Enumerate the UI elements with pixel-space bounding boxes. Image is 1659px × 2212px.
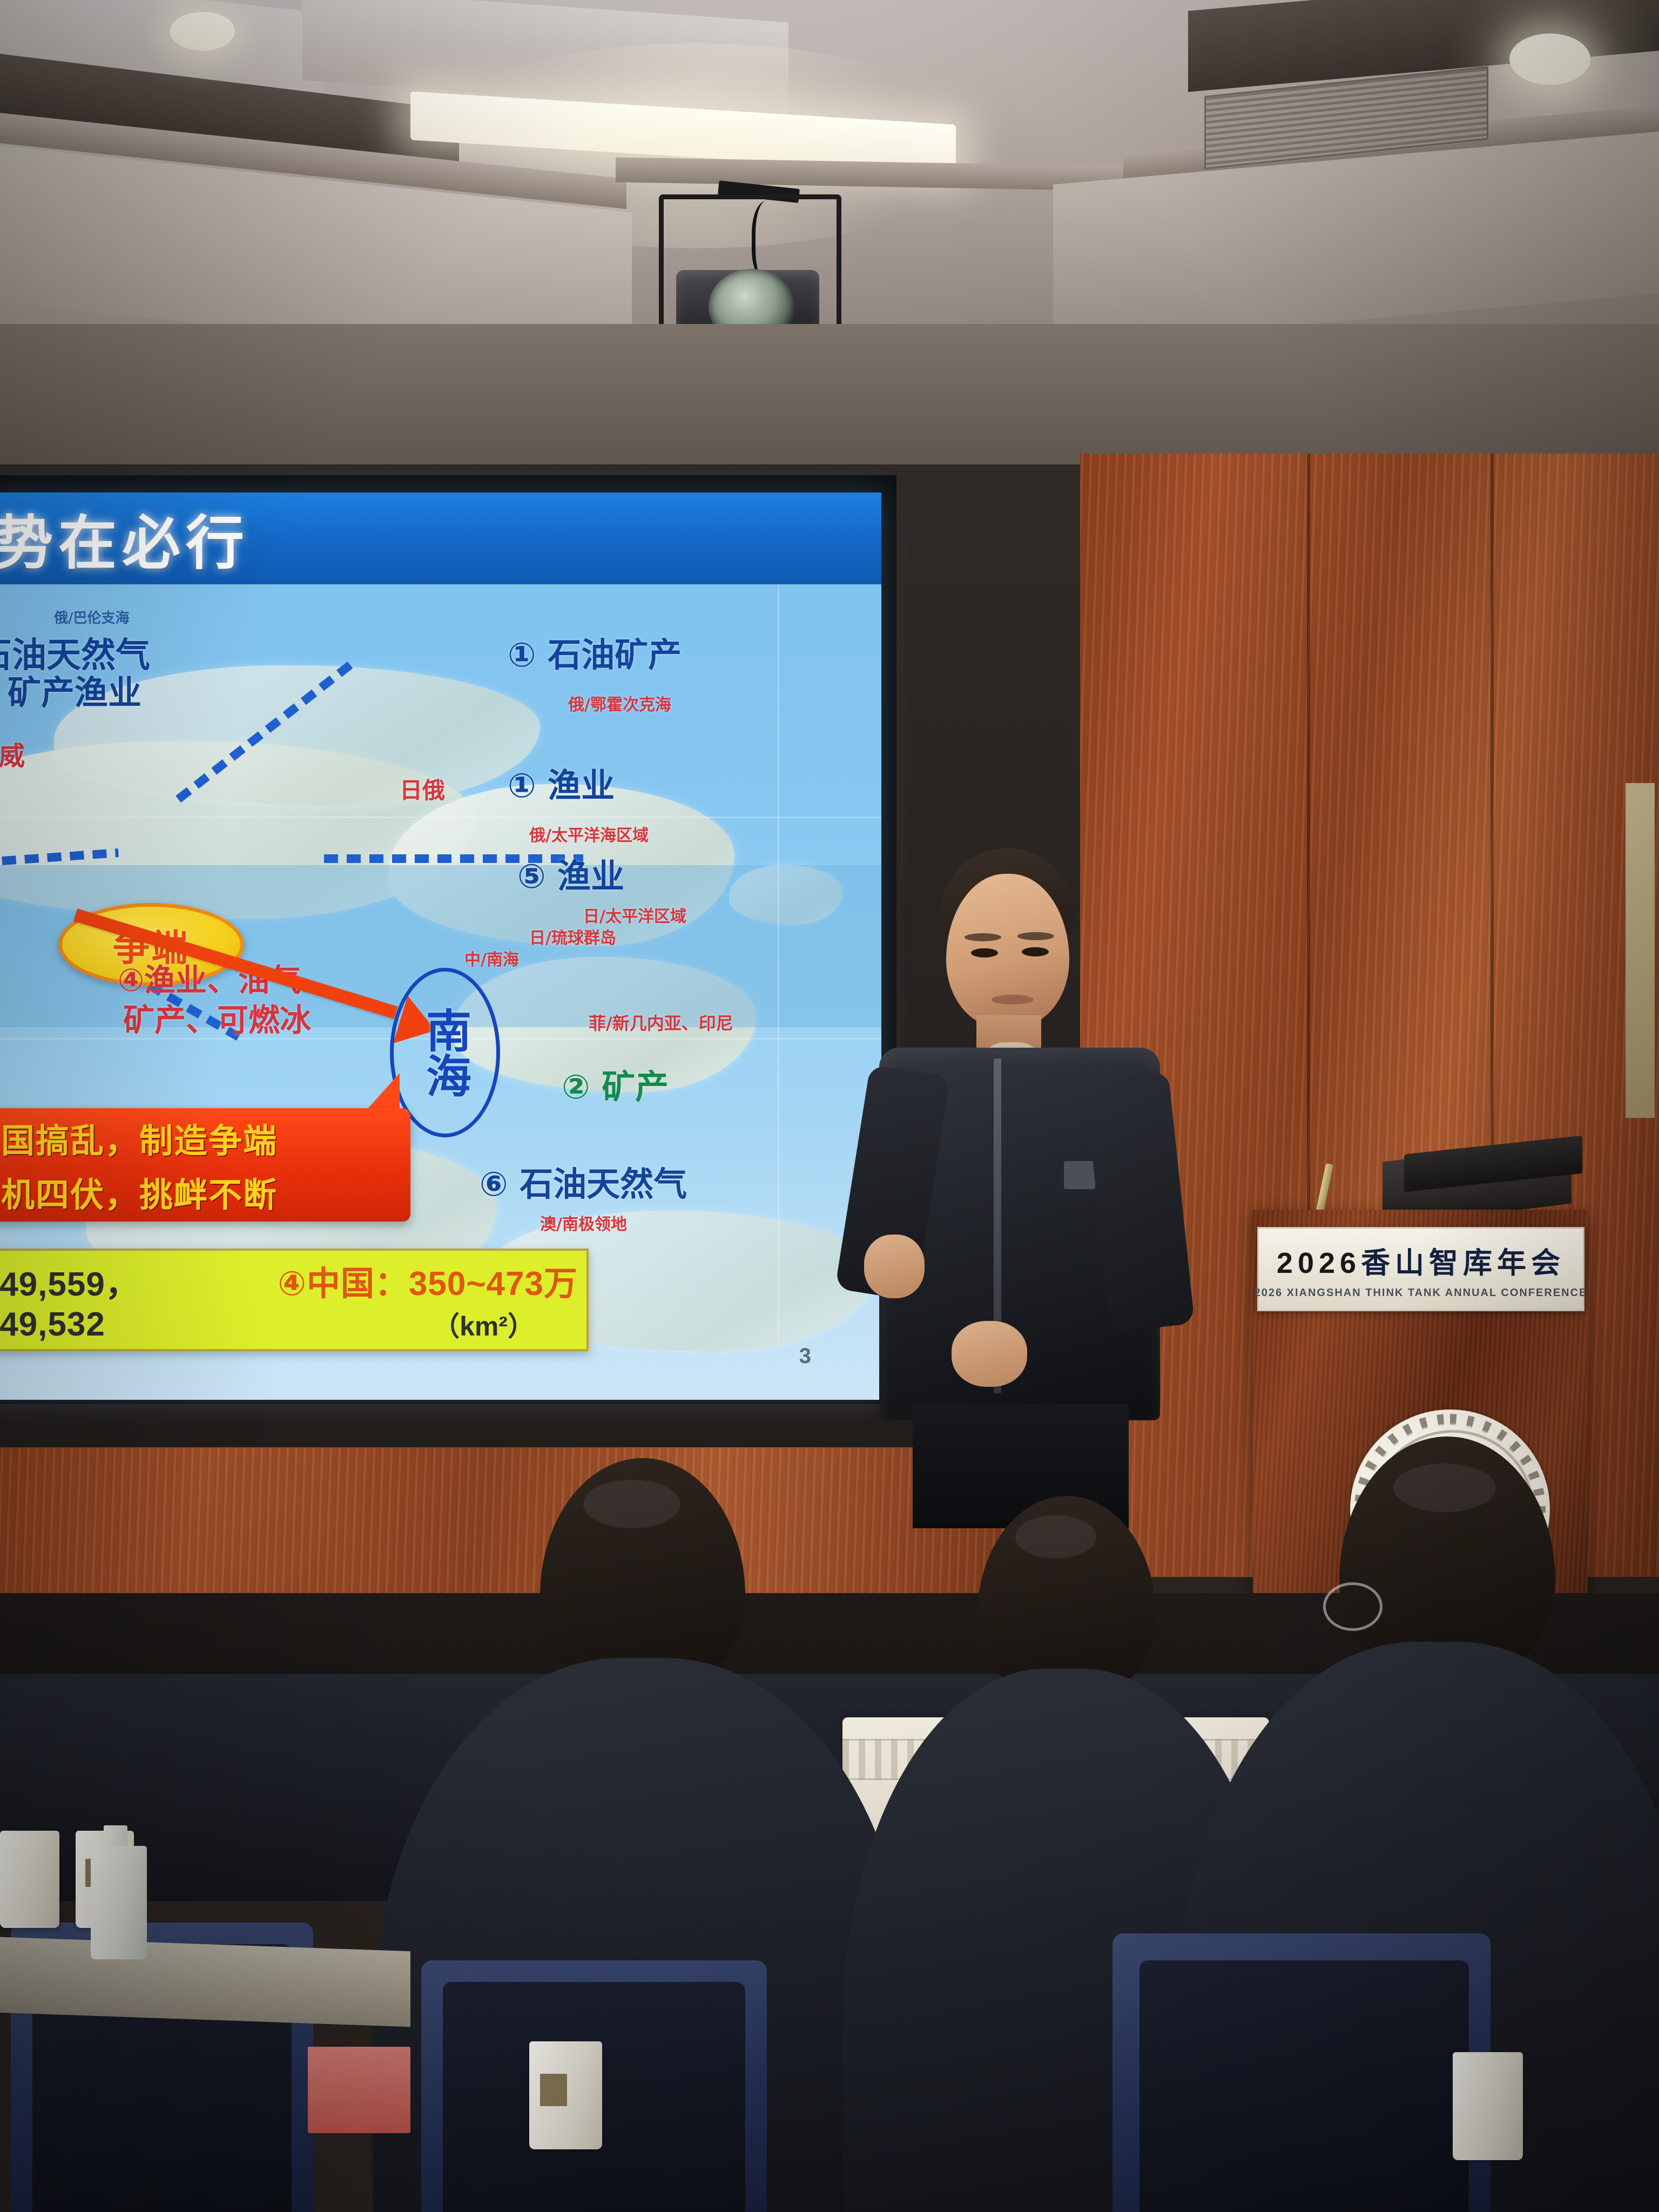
- label-item5-sub1: 日/太平洋区域: [583, 903, 686, 927]
- attendee-left-hair-highlight: [583, 1480, 680, 1528]
- attendee-right-glasses: [1323, 1582, 1382, 1631]
- area-statistics-box: 5,349,559， 1,449,532 ④中国：350~473万 （km²）: [0, 1249, 589, 1351]
- label-item1-fishery-sub: 俄/太平洋海区域: [529, 822, 649, 846]
- label-item4-line2: 矿产、可燃冰: [123, 995, 311, 1040]
- label-japan-russia: 日俄: [400, 772, 445, 805]
- area-stats-left-column: 5,349,559， 1,449,532: [0, 1257, 139, 1344]
- label-philippines: 菲/新几内亚、印尼: [589, 1010, 733, 1035]
- label-item5-fishery: ⑤ 渔业: [517, 849, 624, 898]
- label-item6-sub: 澳/南极领地: [540, 1211, 627, 1235]
- projection-screen: 势在必行 俄/巴伦支海 石油天然气 矿产渔业 挪威: [0, 493, 881, 1400]
- attendee-right-hair-highlight: [1393, 1464, 1496, 1512]
- label-top-left-small: 俄/巴伦支海: [54, 607, 130, 627]
- podium-nameplate: 2026香山智库年会 2026 XIANGSHAN THINK TANK ANN…: [1257, 1227, 1584, 1311]
- speaker-mouth: [992, 995, 1034, 1004]
- label-item1-oil-sub: 俄/鄂霍次克海: [568, 691, 671, 715]
- label-item5-sub3: 中/南海: [464, 946, 519, 970]
- ceiling-light-left: [170, 12, 235, 51]
- speaker-eye-left: [971, 948, 998, 957]
- cup-left-2: [0, 1831, 59, 1928]
- conference-hall-photo: 势在必行 俄/巴伦支海 石油天然气 矿产渔业 挪威: [0, 0, 1659, 2212]
- area-stats-value-2: 1,449,532: [0, 1305, 139, 1344]
- label-item6-oilgas: ⑥ 石油天然气: [480, 1157, 687, 1205]
- area-stats-right-column: ④中国：350~473万 （km²）: [278, 1256, 578, 1344]
- speaker-person: [832, 842, 1242, 1523]
- map-gridline-v1: [778, 584, 779, 1340]
- label-item2-mineral: ② 矿产: [562, 1060, 669, 1108]
- speaker-eye-right: [1022, 947, 1049, 956]
- label-mineral-fishery-left: 矿产渔业: [8, 665, 141, 714]
- label-item1-fishery: ① 渔业: [508, 758, 615, 807]
- cup-right-1-label: [540, 2074, 567, 2106]
- speaker-jacket-badge: [1064, 1161, 1095, 1189]
- label-norway: 挪威: [0, 734, 25, 772]
- area-stats-china: ④中国：350~473万: [278, 1256, 578, 1305]
- chair-right-inner: [1139, 1960, 1469, 2212]
- red-banner-line1: 美国搞乱，制造争端: [0, 1114, 401, 1162]
- speaker-eyebrow-left: [965, 933, 1001, 941]
- ceiling-light-right: [1509, 33, 1590, 85]
- name-placard: [308, 2047, 410, 2133]
- label-item5-sub2: 日/琉球群岛: [529, 925, 616, 948]
- cup-far-right: [1453, 2052, 1523, 2160]
- podium-sign-chinese: 2026香山智库年会: [1277, 1239, 1565, 1282]
- red-warning-banner: 美国搞乱，制造争端 危机四伏，挑衅不断: [0, 1108, 410, 1222]
- red-banner-line2: 危机四伏，挑衅不断: [0, 1168, 401, 1216]
- speaker-head: [946, 874, 1069, 1028]
- attendee-center-hair-highlight: [1015, 1515, 1096, 1559]
- area-stats-unit: （km²）: [433, 1305, 535, 1344]
- map-gridline-h1: [0, 817, 881, 818]
- podium-sign-title: 香山智库年会: [1361, 1247, 1565, 1279]
- water-bottle: [91, 1846, 147, 1959]
- speaker-hand-right: [952, 1321, 1027, 1387]
- area-stats-value-1: 5,349,559，: [0, 1257, 139, 1305]
- slide-title-bar: 势在必行: [0, 493, 881, 584]
- slide-page-number: 3: [799, 1344, 811, 1368]
- speaker-eyebrow-right: [1017, 932, 1054, 940]
- slide-title-text: 势在必行: [0, 496, 249, 581]
- slide-content: 势在必行 俄/巴伦支海 石油天然气 矿产渔业 挪威: [0, 493, 881, 1400]
- podium-sign-english: 2026 XIANGSHAN THINK TANK ANNUAL CONFERE…: [1255, 1287, 1588, 1299]
- podium-sign-year: 2026: [1277, 1247, 1361, 1279]
- label-item1-oil: ① 石油矿产: [508, 628, 682, 676]
- foreground-table: [0, 1937, 410, 2027]
- door-edge-strip: [1626, 783, 1655, 1118]
- speaker-hand-left: [864, 1235, 925, 1298]
- south-sea-oval-text: 南海: [424, 1007, 467, 1098]
